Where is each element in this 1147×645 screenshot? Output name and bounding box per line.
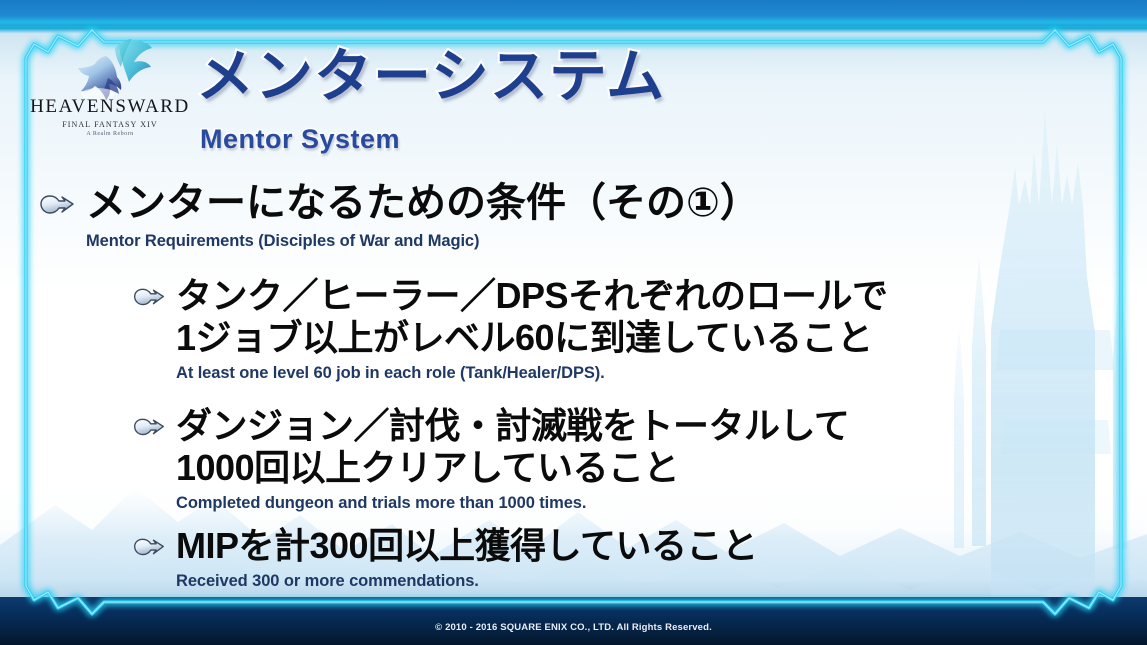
logo-title: HEAVENSWARD — [30, 96, 190, 118]
requirement-1-en: At least one level 60 job in each role (… — [176, 364, 888, 383]
requirement-item-3: MIPを計300回以上獲得していること Received 300 or more… — [132, 525, 758, 591]
slide-header: HEAVENSWARD FINAL FANTASY XIV A Realm Re… — [0, 22, 1147, 150]
requirement-1-jp-line-1: タンク／ヒーラー／DPSそれぞれのロールで — [176, 275, 888, 317]
pointing-hand-icon — [38, 189, 76, 219]
slide-root: HEAVENSWARD FINAL FANTASY XIV A Realm Re… — [0, 0, 1147, 645]
page-title-jp: メンターシステム — [196, 48, 665, 106]
requirement-2-jp-line-1: ダンジョン／討伐・討滅戦をトータルして — [176, 405, 849, 447]
logo-tagline: A Realm Reborn — [30, 131, 190, 137]
heavensward-logo: HEAVENSWARD FINAL FANTASY XIV A Realm Re… — [30, 34, 190, 150]
requirement-3-en: Received 300 or more commendations. — [176, 572, 758, 591]
requirement-1-jp-line-2: 1ジョブ以上がレベル60に到達していること — [176, 317, 888, 359]
page-title-en: Mentor System — [200, 126, 400, 153]
heading-en: Mentor Requirements (Disciples of War an… — [86, 232, 479, 251]
requirement-3-jp-line-1: MIPを計300回以上獲得していること — [176, 525, 758, 567]
pointing-hand-icon — [132, 283, 166, 310]
requirement-2-jp-line-2: 1000回以上クリアしていること — [176, 447, 849, 489]
pointing-hand-icon — [132, 533, 166, 560]
requirement-item-1: タンク／ヒーラー／DPSそれぞれのロールで 1ジョブ以上がレベル60に到達してい… — [132, 275, 888, 383]
requirement-2-en: Completed dungeon and trials more than 1… — [176, 494, 849, 513]
heading-jp: メンターになるための条件（その①） — [86, 181, 760, 225]
copyright-footer: © 2010 - 2016 SQUARE ENIX CO., LTD. All … — [0, 622, 1147, 633]
logo-series: FINAL FANTASY XIV — [30, 120, 190, 129]
requirement-item-2: ダンジョン／討伐・討滅戦をトータルして 1000回以上クリアしていること Com… — [132, 405, 849, 513]
requirements-heading: メンターになるための条件（その①） — [38, 180, 760, 227]
pointing-hand-icon — [132, 413, 166, 440]
